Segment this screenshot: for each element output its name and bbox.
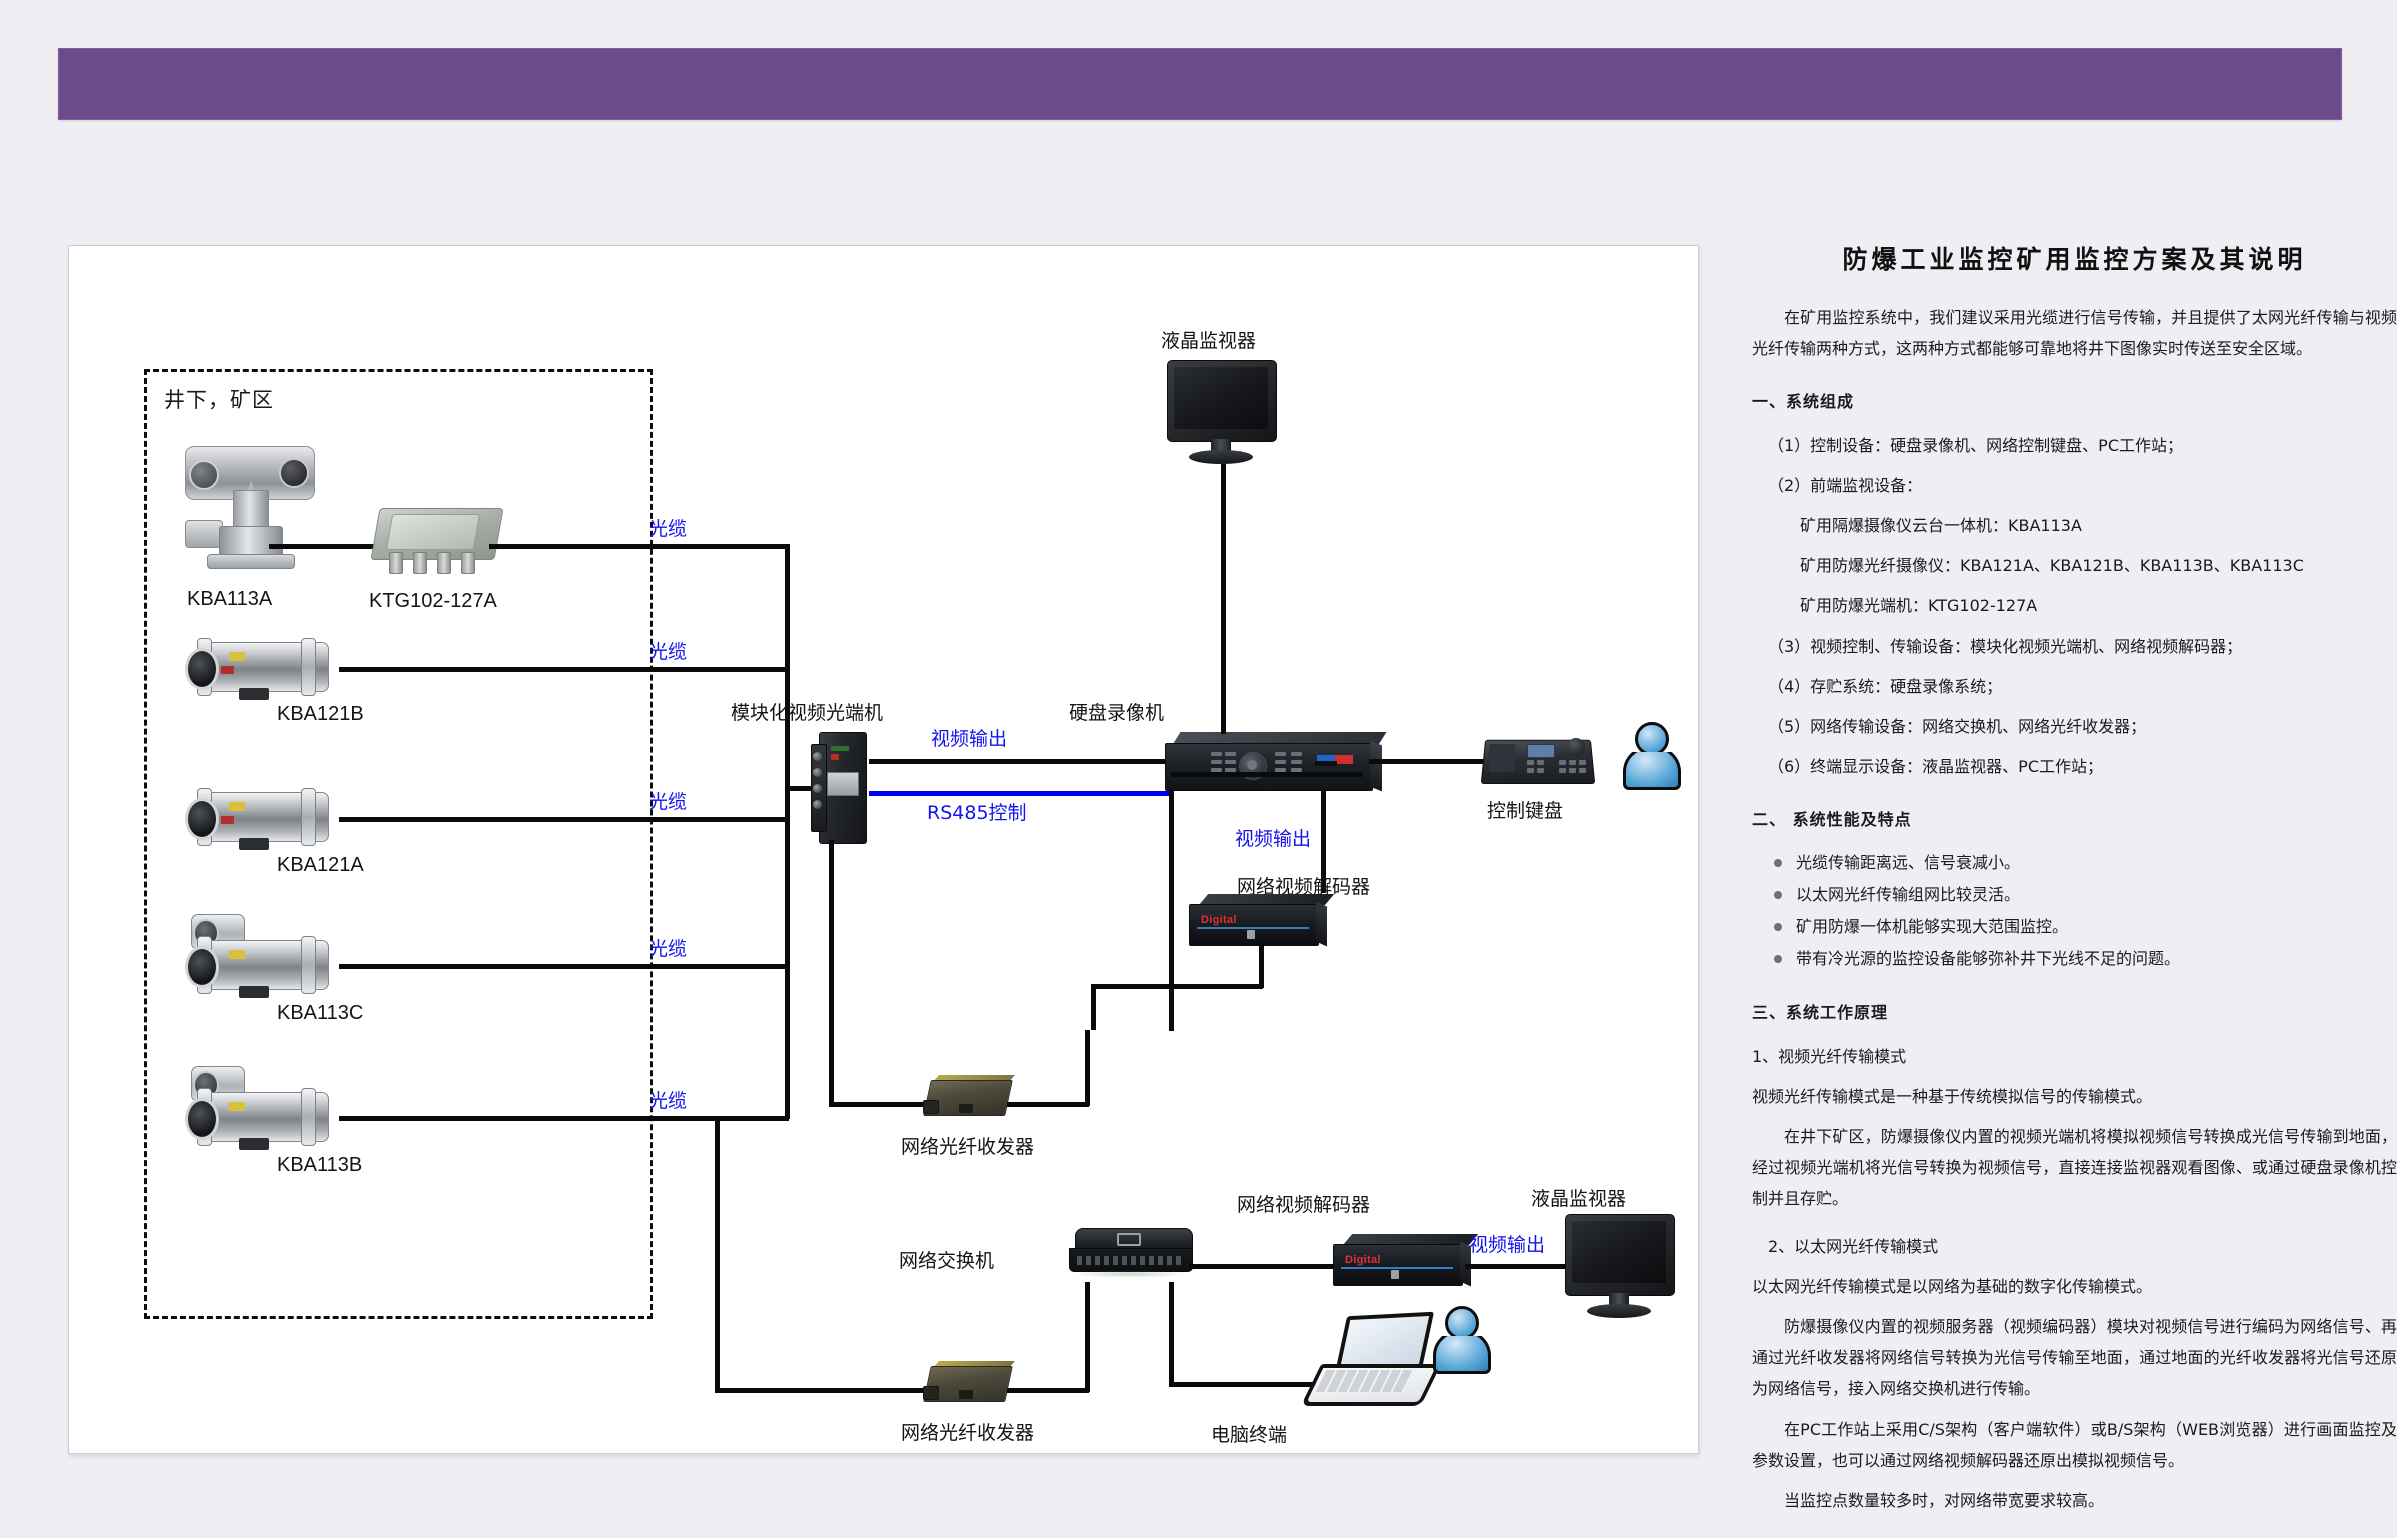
doc-mode-1-p1: 视频光纤传输模式是一种基于传统模拟信号的传输模式。 [1752,1081,2397,1112]
dvr-side-icon [1370,741,1382,792]
keyboard-key-icon [1579,760,1586,765]
doc-section-1-item-4: （4）存贮系统：硬盘录像系统； [1752,671,2397,702]
bullet-label-icon [229,1102,245,1111]
link-label-fiber-2: 光缆 [649,637,687,664]
doc-section-2-title: 二、 系统性能及特点 [1752,804,2397,835]
switch-port-row-icon [1077,1256,1181,1265]
optic-port-icon [813,800,822,809]
control-keyboard [1483,730,1595,788]
optic-terminal-icon [831,746,849,751]
dvr-bezel-slot-icon [1171,772,1363,777]
ptz-camera-kba113a [179,428,329,578]
link-label-rs485: RS485控制 [927,798,1027,825]
wire-dvr-to-monitor-top [1221,464,1226,734]
underground-zone-label: 井下，矿区 [164,384,274,414]
doc-section-2-bullet-3: 矿用防爆一体机能够实现大范围监控。 [1796,911,2397,943]
network-switch [1069,1228,1195,1282]
ptz-stub-icon [185,520,223,548]
dvr-button-icon [1211,760,1222,764]
diagram-card: 井下，矿区 KBA113A KTG102-127A 光缆 KBA121B 光缆 [68,245,1699,1454]
wire-ptz-to-jbox [269,544,379,549]
bullet-camera-kba113c [181,934,341,1000]
media-converter-lower [921,1360,1013,1408]
wire-fiber-trunk [785,544,790,1119]
wire-converter-lower-out [1007,1388,1089,1393]
jbox-gland-icon [437,552,451,574]
decoder-power-icon [1391,1270,1399,1279]
keyboard-key-icon [1559,760,1566,765]
explanation-panel: 防爆工业监控矿用监控方案及其说明 在矿用监控系统中，我们建议采用光缆进行信号传输… [1752,240,2397,1525]
label-kba113b: KBA113B [277,1154,362,1177]
doc-section-1-item-5: （5）网络传输设备：网络交换机、网络光纤收发器； [1752,711,2397,742]
wire-fiber-trunk-lower [715,1116,720,1392]
jbox-lid-icon [386,514,480,550]
converter-rj45-icon [959,1104,973,1113]
switch-shadow-icon [1071,1270,1189,1278]
converter-fiber-port-icon [923,1386,939,1400]
bullet-mount-icon [239,838,269,850]
doc-mode-2-p2: 防爆摄像仪内置的视频服务器（视频编码器）模块对视频信号进行编码为网络信号、再通过… [1752,1311,2397,1405]
doc-mode-2-p1: 以太网光纤传输模式是以网络为基础的数字化传输模式。 [1752,1271,2397,1302]
pc-terminal-laptop [1311,1314,1433,1402]
doc-section-1-sub-2: 矿用防爆光纤摄像仪：KBA121A、KBA121B、KBA113B、KBA113… [1752,550,2397,581]
wire-switch-to-pc [1169,1282,1174,1386]
wire-to-switch-top-right [1091,984,1096,1030]
label-ktg102-127a: KTG102-127A [369,590,497,613]
wire-dvr-to-switch [1169,791,1174,1031]
label-network-switch: 网络交换机 [899,1246,994,1273]
wire-switch-to-pc-h [1169,1382,1321,1387]
wire-jbox-to-trunk [489,544,789,549]
keyboard-key-icon [1569,768,1576,773]
avatar-head-icon [1635,722,1669,756]
converter-fiber-port-icon [923,1100,939,1114]
label-kba121a: KBA121A [277,854,364,877]
label-control-keyboard: 控制键盘 [1487,796,1563,823]
keyboard-key-icon [1537,768,1544,773]
dvr-button-icon [1225,760,1236,764]
doc-section-2-bullet-4: 带有冷光源的监控设备能够弥补井下光线不足的问题。 [1796,943,2397,975]
bullet-label-icon [229,652,245,661]
junction-box-ktg102 [375,508,503,584]
wire-decoder-lower-to-monitor [1465,1264,1569,1269]
monitor-screen-icon [1572,1221,1666,1283]
wire-kba121b-to-trunk [339,667,789,672]
bullet-lens-icon [185,798,219,840]
doc-mode-2-p3: 在PC工作站上采用C/S架构（客户端软件）或B/S架构（WEB浏览器）进行画面监… [1752,1414,2397,1476]
wire-video-output-to-dvr [869,759,1169,764]
link-label-video-output-1: 视频输出 [931,724,1007,751]
label-dvr: 硬盘录像机 [1069,698,1164,725]
wire-optic-down-branch [829,840,834,1106]
doc-section-1-item-3: （3）视频控制、传输设备：模块化视频光端机、网络视频解码器； [1752,631,2397,662]
doc-section-3-title: 三、系统工作原理 [1752,997,2397,1028]
wire-kba113b-to-trunk [339,1116,789,1121]
optic-port-icon [813,752,822,761]
bullet-badge-icon [221,816,234,824]
doc-section-2-list: 光缆传输距离远、信号衰减小。 以太网光纤传输组网比较灵活。 矿用防爆一体机能够实… [1752,847,2397,975]
label-lcd-monitor-top: 液晶监视器 [1161,326,1256,353]
dvr-button-icon [1225,752,1236,756]
avatar-body-icon [1433,1330,1491,1374]
label-kba113a: KBA113A [187,588,272,611]
doc-mode-2-p4: 当监控点数量较多时，对网络带宽要求较高。 [1752,1485,2397,1516]
label-modular-optical-transceiver: 模块化视频光端机 [731,698,883,725]
bullet-lens-icon [185,648,219,690]
link-label-fiber-4: 光缆 [649,934,687,961]
wire-optic-to-converter-upper [829,1102,925,1107]
doc-section-1-item-2: （2）前端监视设备： [1752,470,2397,501]
converter-rj45-icon [959,1390,973,1399]
bullet-mount-icon [239,688,269,700]
ptz-illuminator-icon [189,460,219,490]
bullet-mount-icon [239,1138,269,1150]
doc-section-2-bullet-1: 光缆传输距离远、信号衰减小。 [1796,847,2397,879]
bullet-camera-kba121a [181,786,341,852]
bullet-label-icon [229,802,245,811]
bullet-badge-icon [221,666,234,674]
media-converter-upper [921,1074,1013,1122]
keyboard-key-icon [1527,768,1534,773]
keyboard-key-icon [1569,760,1576,765]
doc-section-1-sub-1: 矿用隔爆摄像仪云台一体机：KBA113A [1752,510,2397,541]
laptop-keyboard-icon [1316,1370,1415,1392]
dvr-button-icon [1291,760,1302,764]
bullet-ring-icon [301,936,316,994]
wire-fiber-to-converter-lower [715,1388,925,1393]
optic-port-icon [813,768,822,777]
doc-section-1-item-1: （1）控制设备：硬盘录像机、网络控制键盘、PC工作站； [1752,430,2397,461]
link-label-fiber-1: 光缆 [649,514,687,541]
wire-kba113c-to-trunk [339,964,789,969]
doc-section-1-item-6: （6）终端显示设备：液晶监视器、PC工作站； [1752,751,2397,782]
keyboard-key-icon [1559,768,1566,773]
link-label-fiber-5: 光缆 [649,1086,687,1113]
bullet-lens-icon [185,1098,219,1140]
ptz-flange-icon [207,554,295,569]
lcd-monitor-bottom [1565,1214,1677,1322]
bullet-label-icon [229,950,245,959]
doc-section-1-title: 一、系统组成 [1752,386,2397,417]
ptz-lens-icon [279,458,309,488]
keyboard-key-icon [1537,760,1544,765]
doc-intro: 在矿用监控系统中，我们建议采用光缆进行信号传输，并且提供了太网光纤传输与视频光纤… [1752,302,2397,364]
dvr-jog-center-icon [1247,760,1257,770]
decoder-side-icon [1316,902,1327,947]
bullet-camera-kba121b [181,636,341,702]
monitor-screen-icon [1174,367,1268,429]
decoder-stripe-icon [1197,927,1309,929]
network-video-decoder-lower: Digital [1333,1234,1475,1290]
bullet-lens-icon [185,946,219,988]
doc-section-1-sub-3: 矿用防爆光端机：KTG102-127A [1752,590,2397,621]
label-media-converter-upper: 网络光纤收发器 [901,1132,1034,1159]
wire-dvr-to-keyboard [1369,759,1487,764]
avatar-body-icon [1623,746,1681,790]
label-media-converter-lower: 网络光纤收发器 [901,1418,1034,1445]
label-pc-terminal: 电脑终端 [1211,1420,1287,1447]
wire-rs485-to-dvr [869,791,1169,796]
bullet-ring-icon [301,638,316,696]
optic-power-led-icon [831,754,839,760]
network-video-decoder-upper: Digital [1189,894,1331,950]
doc-mode-1-title: 1、视频光纤传输模式 [1752,1041,2397,1072]
optic-port-icon [813,784,822,793]
label-kba113c: KBA113C [277,1002,363,1025]
bullet-ring-icon [301,1088,316,1146]
dvr-button-icon [1211,752,1222,756]
keyboard-key-icon [1579,768,1586,773]
link-label-video-output-2: 视频输出 [1235,824,1311,851]
dvr-button-icon [1275,760,1286,764]
operator-avatar-top [1621,722,1677,784]
hard-disk-recorder [1165,732,1383,798]
decoder-power-icon [1247,930,1255,939]
dvr-tray-icon [1315,761,1337,766]
bullet-camera-kba113b [181,1086,341,1152]
wire-converter-lower-to-switch [1085,1282,1090,1392]
monitor-base-icon [1189,450,1253,464]
decoder-stripe-icon [1341,1267,1453,1269]
keyboard-joystick-icon [1567,738,1585,756]
modular-video-optical-transceiver [811,732,873,844]
wire-kba121a-to-trunk [339,817,789,822]
wire-decoder-upper-to-switch [1091,984,1263,989]
doc-mode-2-title: 2、以太网光纤传输模式 [1752,1231,2397,1262]
wire-decoder-upper-down [1259,944,1264,988]
jbox-gland-icon [413,552,427,574]
monitor-base-icon [1587,1304,1651,1318]
keyboard-shortcut-pad-icon [1489,744,1515,772]
operator-avatar-bottom [1431,1306,1487,1368]
dvr-front-panel-icon [1165,743,1373,791]
doc-title: 防爆工业监控矿用监控方案及其说明 [1752,240,2397,276]
top-banner [58,48,2342,120]
link-label-fiber-3: 光缆 [649,787,687,814]
doc-section-2-bullet-2: 以太网光纤传输组网比较灵活。 [1796,879,2397,911]
dvr-button-icon [1291,752,1302,756]
wire-converter-upper-out [1007,1102,1089,1107]
link-label-video-output-3: 视频输出 [1469,1230,1545,1257]
lcd-monitor-top [1167,360,1279,468]
doc-mode-1-p2: 在井下矿区，防爆摄像仪内置的视频光端机将模拟视频信号转换成光信号传输到地面，经过… [1752,1121,2397,1215]
label-kba121b: KBA121B [277,703,364,726]
avatar-head-icon [1445,1306,1479,1340]
wire-switch-to-decoder-lower [1189,1264,1339,1269]
jbox-gland-icon [461,552,475,574]
keyboard-key-icon [1527,760,1534,765]
label-decoder-lower: 网络视频解码器 [1237,1190,1370,1217]
decoder-brand-icon: Digital [1345,1254,1381,1266]
bullet-ring-icon [301,788,316,846]
decoder-brand-icon: Digital [1201,914,1237,926]
switch-logo-icon [1117,1233,1141,1246]
optic-nameplate-icon [827,772,859,796]
bullet-mount-icon [239,986,269,998]
wire-converter-upper-to-switch [1085,1030,1090,1106]
label-lcd-monitor-bottom: 液晶监视器 [1531,1184,1626,1211]
dvr-button-icon [1275,752,1286,756]
keyboard-lcd-icon [1527,744,1555,758]
jbox-gland-icon [389,552,403,574]
